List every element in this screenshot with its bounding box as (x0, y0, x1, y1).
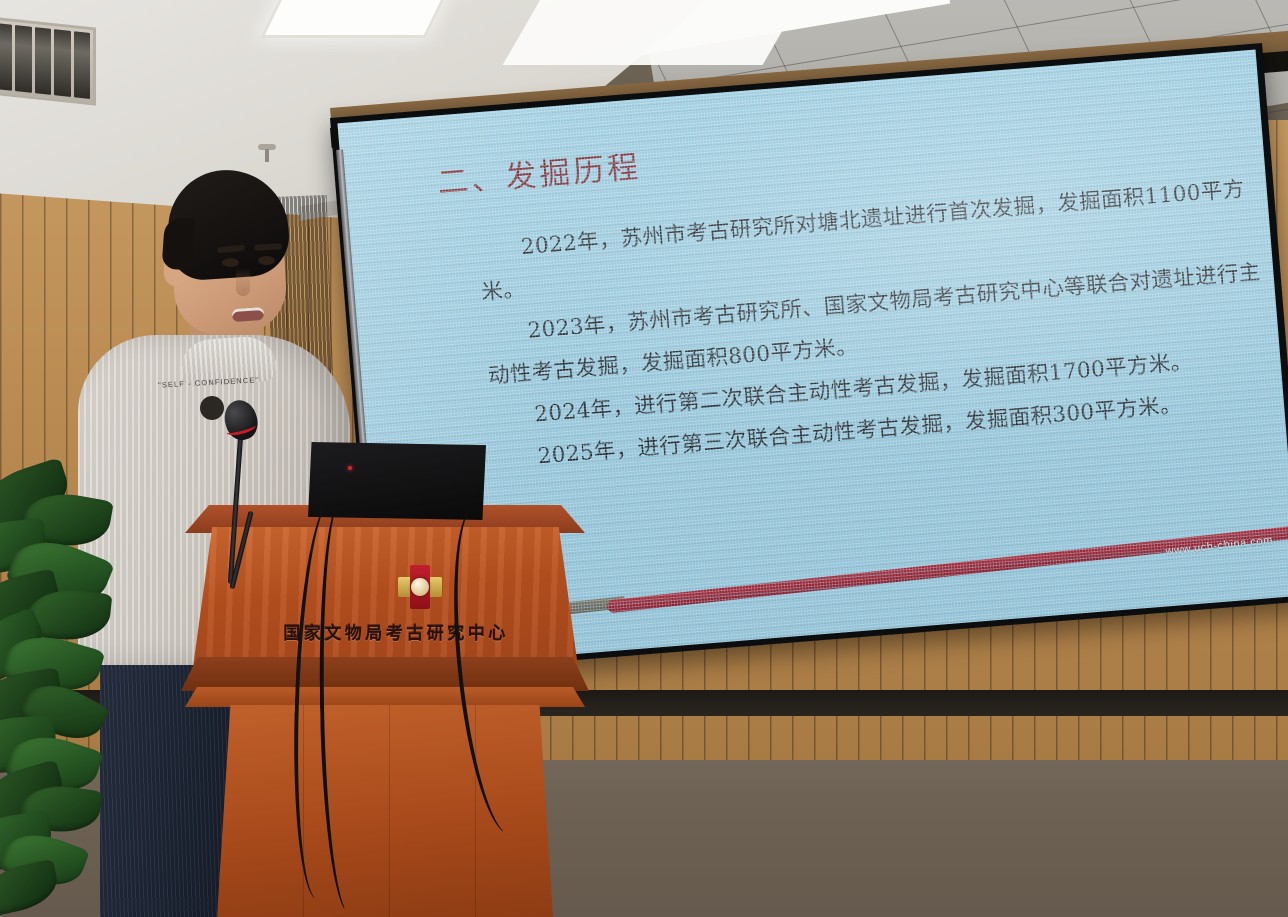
slide-accent-band (607, 523, 1288, 614)
air-vent-icon (0, 16, 96, 105)
cultural-heritage-emblem-icon (398, 565, 442, 609)
potted-plant (0, 470, 186, 917)
slide-title: 二、发掘历程 (436, 141, 643, 202)
nose (236, 268, 250, 296)
gooseneck-microphone[interactable] (195, 400, 305, 575)
eye-right (258, 256, 275, 265)
podium-lip (181, 657, 589, 691)
laptop-indicator-led (348, 466, 352, 470)
eye-left (222, 258, 239, 267)
conference-room-photo: 二、发掘历程 2022年，苏州市考古研究所对塘北遗址进行首次发掘，发掘面积110… (0, 0, 1288, 917)
mouth (232, 307, 265, 322)
podium-lip-lower (185, 687, 585, 707)
mic-capsule (221, 397, 262, 444)
podium-organization-label: 国家文物局考古研究中心 (241, 619, 551, 644)
ceiling-light-panel (260, 0, 454, 38)
slide-body: 2022年，苏州市考古研究所对塘北遗址进行首次发掘，发掘面积1100平方米。 2… (477, 167, 1285, 482)
podium-base (217, 705, 553, 917)
